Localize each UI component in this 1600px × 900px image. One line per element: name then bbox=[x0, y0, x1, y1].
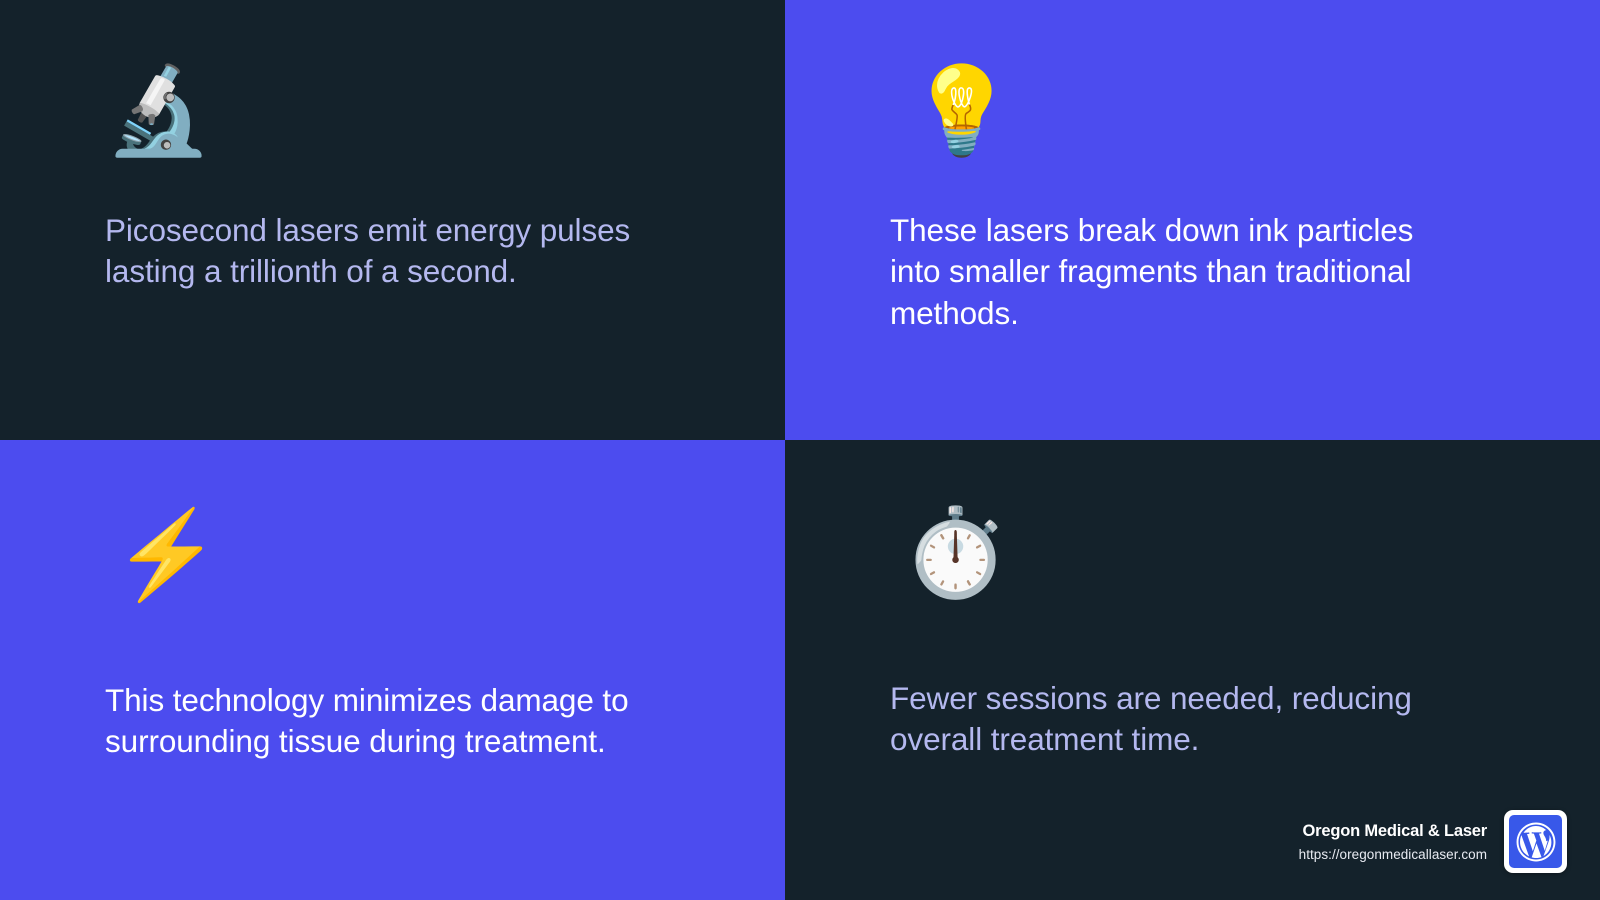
stopwatch-icon: ⏱️ bbox=[902, 510, 1495, 630]
panel-top-right: 💡 These lasers break down ink particles … bbox=[785, 0, 1600, 440]
brand-url[interactable]: https://oregonmedicallaser.com bbox=[1299, 847, 1487, 862]
panel-bottom-right: ⏱️ Fewer sessions are needed, reducing o… bbox=[785, 440, 1600, 900]
infographic-grid: 🔬 Picosecond lasers emit energy pulses l… bbox=[0, 0, 1600, 900]
branding-text: Oregon Medical & Laser https://oregonmed… bbox=[1299, 822, 1487, 862]
panel-bottom-left-text: This technology minimizes damage to surr… bbox=[105, 680, 680, 763]
panel-bottom-left: ⚡ This technology minimizes damage to su… bbox=[0, 440, 785, 900]
panel-bottom-right-text: Fewer sessions are needed, reducing over… bbox=[890, 678, 1450, 761]
wordpress-icon bbox=[1515, 821, 1557, 863]
light-bulb-icon: 💡 bbox=[908, 68, 1495, 188]
wordpress-badge-inner bbox=[1509, 815, 1562, 868]
microscope-icon: 🔬 bbox=[105, 68, 680, 188]
high-voltage-icon: ⚡ bbox=[113, 512, 680, 632]
panel-top-left-text: Picosecond lasers emit energy pulses las… bbox=[105, 210, 665, 293]
wordpress-badge[interactable] bbox=[1504, 810, 1567, 873]
brand-name: Oregon Medical & Laser bbox=[1303, 822, 1488, 841]
panel-top-right-text: These lasers break down ink particles in… bbox=[890, 210, 1465, 334]
branding: Oregon Medical & Laser https://oregonmed… bbox=[1299, 810, 1567, 873]
panel-top-left: 🔬 Picosecond lasers emit energy pulses l… bbox=[0, 0, 785, 440]
